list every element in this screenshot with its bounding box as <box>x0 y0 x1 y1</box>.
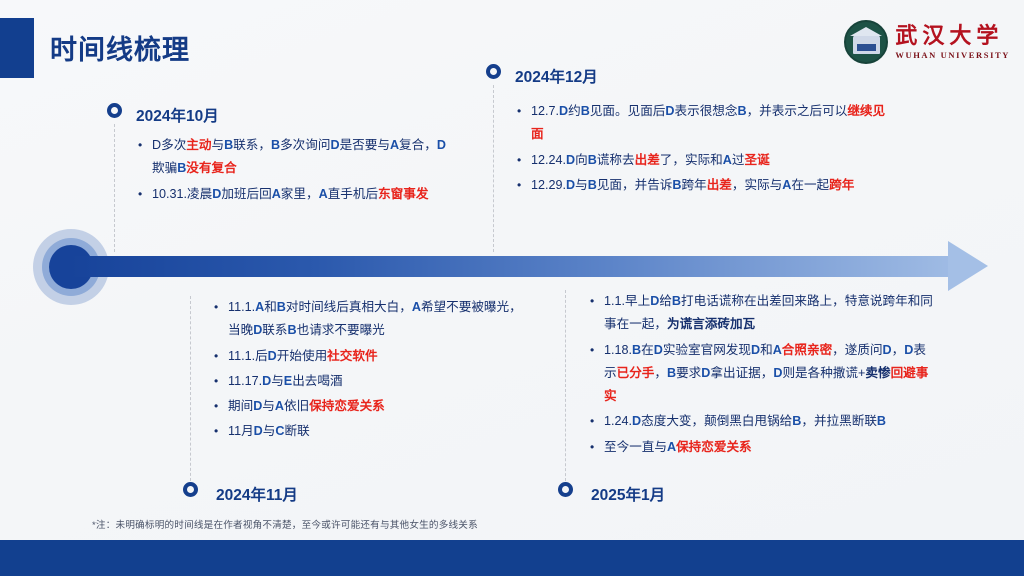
timeline-node-dec-2024[interactable] <box>486 64 501 79</box>
timeline-node-label-jan-2025: 2025年1月 <box>591 483 665 505</box>
timeline-node-oct-2024[interactable] <box>107 103 122 118</box>
page-title: 时间线梳理 <box>50 28 190 67</box>
list-item: 至今一直与A保持恋爱关系 <box>588 436 938 459</box>
seal-building-glyph <box>853 35 880 54</box>
list-item: 12.24.D向B谎称去出差了，实际和A过圣诞 <box>515 149 897 172</box>
list-item: 12.7.D约B见面。见面后D表示很想念B，并表示之后可以继续见面 <box>515 100 897 147</box>
footnote-text: *注：未明确标明的时间线是在作者视角不清楚，至今或许可能还有与其他女生的多线关系 <box>92 517 478 531</box>
list-item: 1.18.B在D实验室官网发现D和A合照亲密，遂质问D，D表示已分手，B要求D拿… <box>588 339 938 409</box>
university-seal-icon <box>844 20 888 64</box>
list-item: 11月D与C断联 <box>212 420 524 443</box>
timeline-node-label-dec-2024: 2024年12月 <box>515 65 598 87</box>
list-item: 1.1.早上D给B打电话谎称在出差回来路上，特意说跨年和同事在一起，为谎言添砖加… <box>588 290 938 337</box>
connector-line-oct-2024 <box>114 124 115 252</box>
timeline-node-jan-2025[interactable] <box>558 482 573 497</box>
list-item: D多次主动与B联系，B多次询问D是否要与A复合，D欺骗B没有复合 <box>136 134 454 181</box>
list-item: 11.17.D与E出去喝酒 <box>212 370 524 393</box>
slide-canvas: 时间线梳理 武汉大学 WUHAN UNIVERSITY 2024年10月 D多次… <box>0 0 1024 576</box>
connector-line-nov-2024 <box>190 296 191 486</box>
logo-name-en: WUHAN UNIVERSITY <box>895 51 1010 60</box>
logo-name-cn: 武汉大学 <box>895 25 1010 47</box>
list-item: 11.1.后D开始使用社交软件 <box>212 345 524 368</box>
list-item: 期间D与A依旧保持恋爱关系 <box>212 395 524 418</box>
timeline-node-label-oct-2024: 2024年10月 <box>136 104 219 126</box>
wuhan-university-logo: 武汉大学 WUHAN UNIVERSITY <box>844 20 1010 64</box>
list-item: 11.1.A和B对时间线后真相大白，A希望不要被曝光，当晚D联系B也请求不要曝光 <box>212 296 524 343</box>
logo-text-group: 武汉大学 WUHAN UNIVERSITY <box>895 25 1010 60</box>
content-block-dec-2024: 12.7.D约B见面。见面后D表示很想念B，并表示之后可以继续见面 12.24.… <box>515 100 897 199</box>
timeline-arrow-head-icon <box>948 241 988 291</box>
timeline-axis-bar <box>70 256 950 277</box>
connector-line-dec-2024 <box>493 85 494 252</box>
content-block-oct-2024: D多次主动与B联系，B多次询问D是否要与A复合，D欺骗B没有复合 10.31.凌… <box>136 134 454 208</box>
list-item: 1.24.D态度大变，颠倒黑白甩锅给B，并拉黑断联B <box>588 410 938 433</box>
timeline-node-nov-2024[interactable] <box>183 482 198 497</box>
footer-bar <box>0 540 1024 576</box>
title-accent-bar <box>0 18 34 78</box>
timeline-node-label-nov-2024: 2024年11月 <box>216 483 298 505</box>
content-block-nov-2024: 11.1.A和B对时间线后真相大白，A希望不要被曝光，当晚D联系B也请求不要曝光… <box>212 296 524 446</box>
list-item: 12.29.D与B见面，并告诉B跨年出差，实际与A在一起跨年 <box>515 174 897 197</box>
connector-line-jan-2025 <box>565 290 566 486</box>
content-block-jan-2025: 1.1.早上D给B打电话谎称在出差回来路上，特意说跨年和同事在一起，为谎言添砖加… <box>588 290 938 461</box>
list-item: 10.31.凌晨D加班后回A家里，A直手机后东窗事发 <box>136 183 454 206</box>
